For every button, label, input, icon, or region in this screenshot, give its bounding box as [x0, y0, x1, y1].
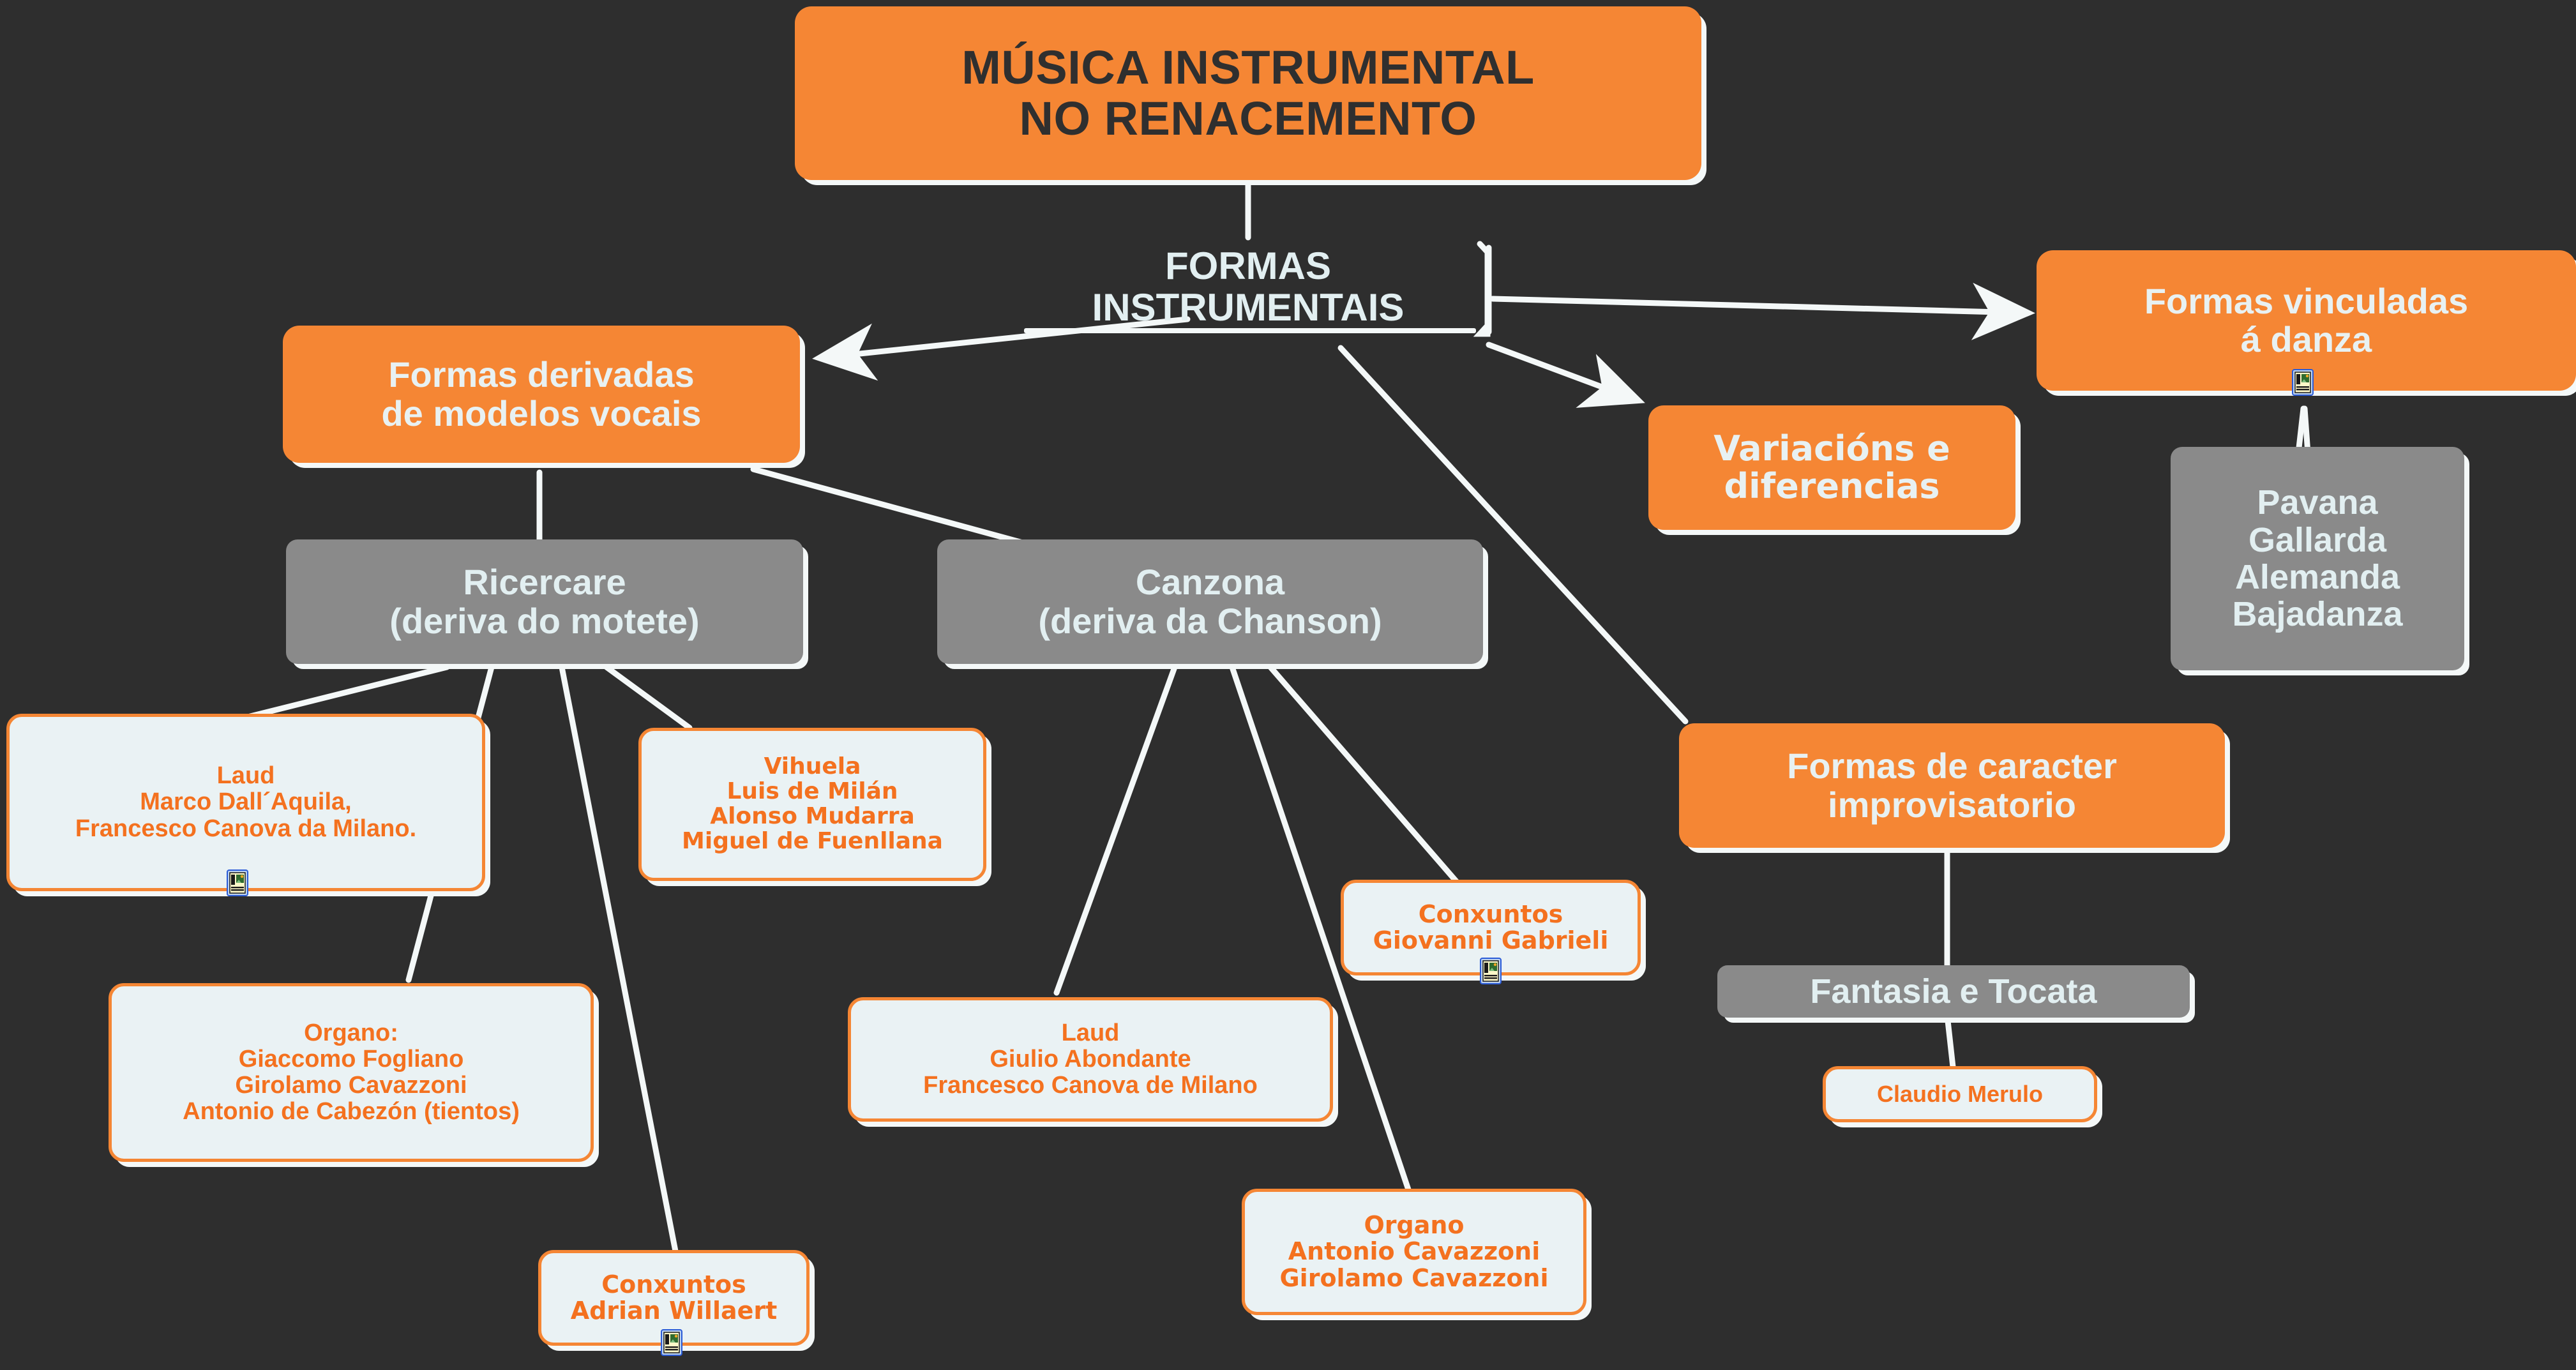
- node-organo-ricercare[interactable]: Organo: Giaccomo Fogliano Girolamo Cavaz…: [109, 983, 594, 1162]
- node-laud-canzona[interactable]: Laud Giulio Abondante Francesco Canova d…: [848, 997, 1333, 1122]
- node-root-title[interactable]: MÚSICA INSTRUMENTAL NO RENACEMENTO: [795, 6, 1701, 180]
- node-canzona[interactable]: Canzona (deriva da Chanson): [937, 539, 1483, 664]
- node-laud-ricercare[interactable]: Laud Marco Dall´Aquila, Francesco Canova…: [6, 714, 485, 891]
- node-pavana-danzas[interactable]: Pavana Gallarda Alemanda Bajadanza: [2171, 447, 2464, 670]
- note-attachment-icon[interactable]: [2292, 369, 2314, 396]
- note-attachment-icon[interactable]: [227, 869, 248, 896]
- node-claudio-merulo[interactable]: Claudio Merulo: [1823, 1066, 2097, 1122]
- node-ricercare[interactable]: Ricercare (deriva do motete): [286, 539, 803, 664]
- connector-lines: [0, 0, 2576, 1370]
- node-vihuela[interactable]: Vihuela Luis de Milán Alonso Mudarra Mig…: [638, 728, 986, 881]
- node-formas-derivadas[interactable]: Formas derivadas de modelos vocais: [283, 326, 800, 463]
- mind-map-canvas: MÚSICA INSTRUMENTAL NO RENACEMENTO FORMA…: [0, 0, 2576, 1370]
- note-attachment-icon[interactable]: [1480, 958, 1502, 984]
- note-attachment-icon[interactable]: [661, 1329, 682, 1356]
- node-fantasia-tocata[interactable]: Fantasia e Tocata: [1717, 965, 2190, 1018]
- node-organo-canzona[interactable]: Organo Antonio Cavazzoni Girolamo Cavazz…: [1242, 1189, 1586, 1315]
- label-underline: [1024, 328, 1476, 333]
- node-formas-instrumentais-label: FORMAS INSTRUMENTAIS: [1092, 246, 1405, 329]
- node-formas-improvisatorio[interactable]: Formas de caracter improvisatorio: [1679, 723, 2225, 848]
- node-formas-instrumentais[interactable]: FORMAS INSTRUMENTAIS: [1021, 236, 1475, 338]
- node-variacions-diferencias[interactable]: Variacións e diferencias: [1648, 405, 2015, 530]
